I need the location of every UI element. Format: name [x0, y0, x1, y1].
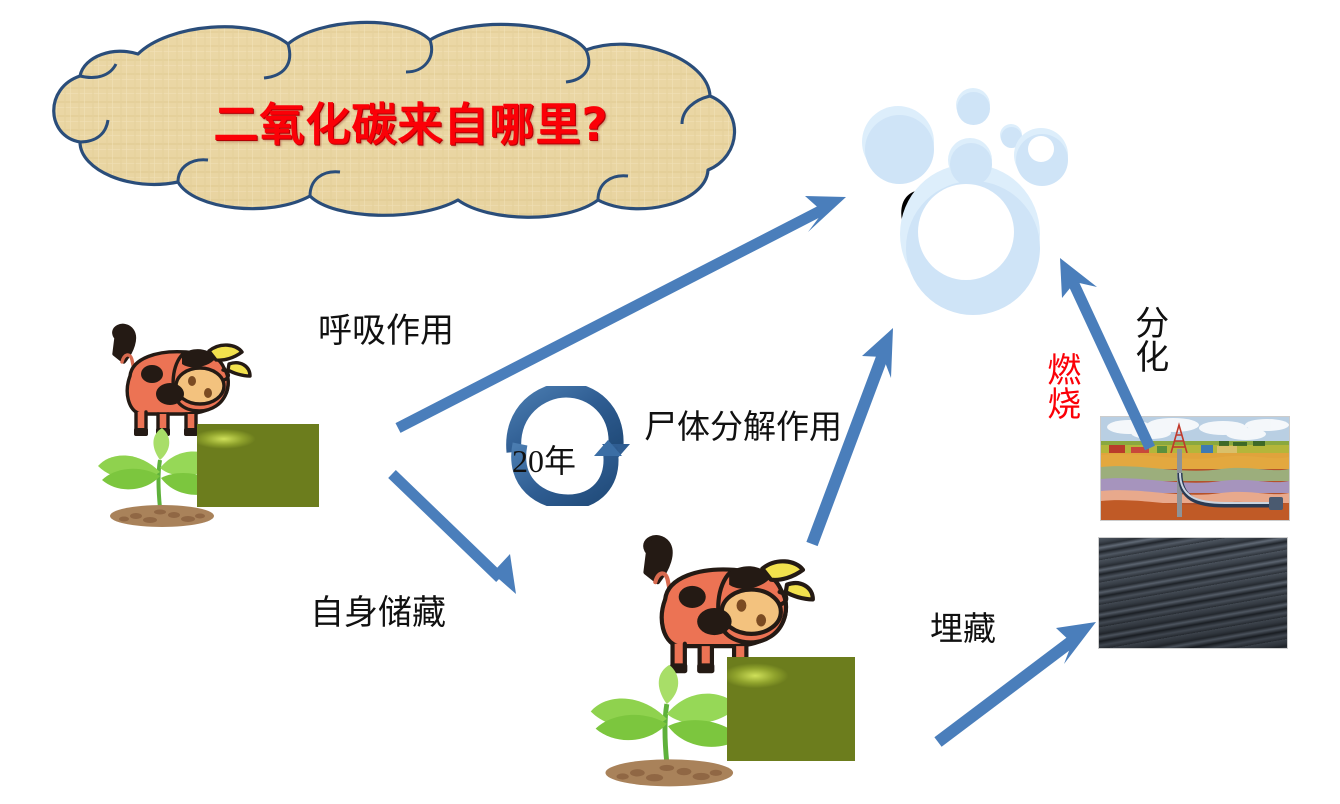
label-burial: 埋藏	[930, 602, 996, 650]
arrow-self-storage	[392, 474, 516, 594]
label-respiration: 呼吸作用	[318, 303, 454, 352]
label-respiration-text: 呼吸作用	[318, 313, 454, 350]
label-burial-text: 埋藏	[930, 612, 996, 648]
bubble-right-highlight	[1028, 136, 1054, 162]
arrow-respiration-shape	[398, 196, 846, 428]
label-differentiation-text: 分化	[1130, 305, 1167, 373]
label-self-storage: 自身储藏	[310, 585, 446, 634]
label-self-storage-text: 自身储藏	[310, 595, 446, 632]
bubble-medium-mid	[948, 138, 992, 182]
label-corpse-decomposition: 尸体分解作用	[644, 400, 842, 448]
carbon-cycle-diagram: 二氧化碳来自哪里? CO2	[0, 0, 1340, 804]
label-corpse-decomposition-text: 尸体分解作用	[644, 410, 842, 446]
label-differentiation: 分化	[1130, 305, 1166, 397]
label-combustion: 燃烧	[1042, 352, 1078, 444]
bubble-small-top	[956, 88, 990, 122]
bubble-main-inner-highlight	[918, 184, 1014, 280]
label-combustion-text: 燃烧	[1042, 352, 1079, 420]
bubble-large-left	[862, 106, 934, 178]
